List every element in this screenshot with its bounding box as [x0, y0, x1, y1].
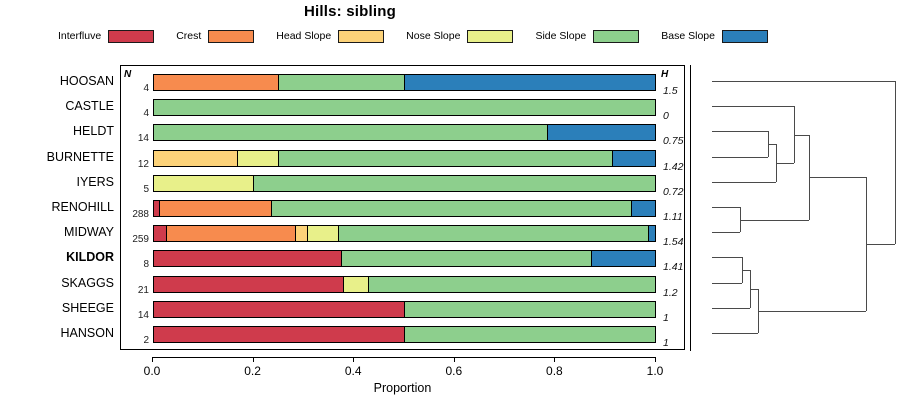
- legend-label: Interfluve: [58, 30, 101, 42]
- table-row: 81.41: [121, 250, 684, 275]
- bar-segment-nose-slope: [308, 226, 339, 241]
- dendrogram-baseline: [690, 65, 691, 351]
- category-label-iyers: IYERS: [0, 175, 114, 189]
- dendrogram: [690, 62, 895, 354]
- table-row: 2881.11: [121, 200, 684, 225]
- n-value: 288: [121, 209, 149, 220]
- dendrogram-link: [742, 270, 750, 271]
- x-tick: [454, 357, 455, 362]
- n-value: 4: [121, 108, 149, 119]
- legend-label: Nose Slope: [406, 30, 460, 42]
- h-value: 0.72: [663, 186, 683, 198]
- legend: InterfluveCrestHead SlopeNose SlopeSide …: [58, 27, 858, 45]
- bar-segment-base-slope: [613, 151, 655, 166]
- bar-segment-base-slope: [548, 125, 655, 140]
- n-value: 12: [121, 159, 149, 170]
- category-label-kildor: KILDOR: [0, 250, 114, 264]
- legend-item: Head Slope: [276, 30, 384, 43]
- dendrogram-link: [776, 163, 794, 164]
- category-label-castle: CASTLE: [0, 99, 114, 113]
- category-label-sheege: SHEEGE: [0, 301, 114, 315]
- legend-swatch: [467, 30, 513, 43]
- x-tick-label: 0.0: [144, 364, 161, 378]
- h-value: 1: [663, 312, 669, 324]
- x-tick: [253, 357, 254, 362]
- legend-label: Base Slope: [661, 30, 715, 42]
- dendrogram-link: [712, 182, 776, 183]
- h-column-header: H: [661, 69, 668, 80]
- dendrogram-link: [712, 131, 768, 132]
- bar-rows: 41.540140.75121.4250.722881.112591.5481.…: [121, 66, 684, 349]
- bar-segment-side-slope: [154, 100, 655, 115]
- bar-segment-interfluve: [154, 226, 167, 241]
- x-axis-line: [152, 357, 655, 358]
- bar-segment-side-slope: [272, 201, 633, 216]
- h-value: 1.2: [663, 287, 678, 299]
- x-tick: [655, 357, 656, 362]
- dendrogram-link: [866, 244, 895, 245]
- table-row: 40: [121, 99, 684, 124]
- table-row: 41.5: [121, 74, 684, 99]
- dendrogram-link: [712, 257, 742, 258]
- legend-swatch: [722, 30, 768, 43]
- chart-canvas: Hills: sibling InterfluveCrestHead Slope…: [0, 0, 900, 420]
- x-tick-label: 0.8: [546, 364, 563, 378]
- h-value: 1: [663, 337, 669, 349]
- table-row: 21: [121, 326, 684, 351]
- bar-segment-interfluve: [154, 277, 344, 292]
- x-tick: [554, 357, 555, 362]
- bar-segment-nose-slope: [154, 176, 254, 191]
- category-axis-labels: HOOSANCASTLEHELDTBURNETTEIYERSRENOHILLMI…: [0, 65, 114, 350]
- n-value: 14: [121, 310, 149, 321]
- dendrogram-link: [712, 308, 750, 309]
- x-tick-label: 0.2: [244, 364, 261, 378]
- dendrogram-link: [712, 207, 740, 208]
- dendrogram-link: [740, 220, 809, 221]
- stacked-bar: [153, 200, 656, 217]
- h-value: 0.75: [663, 135, 683, 147]
- category-label-hanson: HANSON: [0, 326, 114, 340]
- bar-segment-interfluve: [154, 251, 342, 266]
- bar-segment-base-slope: [632, 201, 655, 216]
- h-value: 1.5: [663, 85, 678, 97]
- n-value: 21: [121, 285, 149, 296]
- bar-segment-side-slope: [154, 125, 548, 140]
- bar-segment-side-slope: [342, 251, 593, 266]
- n-value: 2: [121, 335, 149, 346]
- legend-item: Side Slope: [535, 30, 639, 43]
- n-value: 8: [121, 259, 149, 270]
- legend-label: Side Slope: [535, 30, 586, 42]
- x-tick-label: 0.6: [445, 364, 462, 378]
- table-row: 50.72: [121, 175, 684, 200]
- stacked-bar: [153, 150, 656, 167]
- legend-label: Head Slope: [276, 30, 331, 42]
- table-row: 140.75: [121, 124, 684, 149]
- legend-item: Crest: [176, 30, 254, 43]
- x-axis-title: Proportion: [120, 381, 685, 395]
- bar-segment-head-slope: [154, 151, 238, 166]
- table-row: 121.42: [121, 150, 684, 175]
- bar-segment-crest: [167, 226, 296, 241]
- h-value: 0: [663, 110, 669, 122]
- legend-swatch: [338, 30, 384, 43]
- h-value: 1.11: [663, 211, 683, 223]
- h-value: 1.41: [663, 261, 683, 273]
- n-value: 4: [121, 83, 149, 94]
- dendrogram-link: [712, 283, 742, 284]
- dendrogram-link: [712, 106, 794, 107]
- legend-swatch: [208, 30, 254, 43]
- stacked-bar: [153, 175, 656, 192]
- n-value: 5: [121, 184, 149, 195]
- bar-segment-interfluve: [154, 302, 405, 317]
- bar-segment-side-slope: [405, 302, 656, 317]
- bar-segment-base-slope: [592, 251, 655, 266]
- bar-segment-side-slope: [279, 151, 613, 166]
- dendrogram-link: [712, 333, 758, 334]
- bar-segment-nose-slope: [344, 277, 369, 292]
- dendrogram-link: [768, 144, 776, 145]
- stacked-bar: [153, 124, 656, 141]
- dendrogram-link: [895, 81, 896, 244]
- legend-swatch: [108, 30, 154, 43]
- stacked-bar: [153, 301, 656, 318]
- bar-segment-base-slope: [649, 226, 655, 241]
- table-row: 2591.54: [121, 225, 684, 250]
- n-value: 259: [121, 234, 149, 245]
- bar-segment-crest: [160, 201, 272, 216]
- bar-segment-head-slope: [296, 226, 309, 241]
- legend-swatch: [593, 30, 639, 43]
- category-label-renohill: RENOHILL: [0, 200, 114, 214]
- bar-segment-crest: [154, 75, 279, 90]
- category-label-midway: MIDWAY: [0, 225, 114, 239]
- category-label-skaggs: SKAGGS: [0, 276, 114, 290]
- table-row: 211.2: [121, 276, 684, 301]
- legend-item: Base Slope: [661, 30, 768, 43]
- x-tick-label: 0.4: [345, 364, 362, 378]
- stacked-bar: [153, 250, 656, 267]
- plot-area: 41.540140.75121.4250.722881.112591.5481.…: [120, 65, 685, 350]
- chart-title: Hills: sibling: [0, 3, 700, 20]
- stacked-bar: [153, 225, 656, 242]
- bar-segment-nose-slope: [238, 151, 280, 166]
- table-row: 141: [121, 301, 684, 326]
- x-tick: [353, 357, 354, 362]
- bar-segment-side-slope: [254, 176, 655, 191]
- dendrogram-link: [758, 311, 866, 312]
- stacked-bar: [153, 99, 656, 116]
- x-tick: [152, 357, 153, 362]
- dendrogram-link: [750, 289, 758, 290]
- dendrogram-link: [712, 157, 768, 158]
- h-value: 1.54: [663, 236, 683, 248]
- x-axis: 0.00.20.40.60.81.0: [120, 357, 685, 379]
- n-column-header: N: [124, 69, 131, 80]
- category-label-burnette: BURNETTE: [0, 150, 114, 164]
- legend-label: Crest: [176, 30, 201, 42]
- stacked-bar: [153, 74, 656, 91]
- h-value: 1.42: [663, 161, 683, 173]
- bar-segment-base-slope: [405, 75, 656, 90]
- dendrogram-link: [712, 232, 740, 233]
- bar-segment-side-slope: [279, 75, 404, 90]
- dendrogram-link: [712, 81, 895, 82]
- stacked-bar: [153, 276, 656, 293]
- bar-segment-side-slope: [369, 277, 655, 292]
- legend-item: Interfluve: [58, 30, 154, 43]
- dendrogram-link: [794, 135, 809, 136]
- bar-segment-interfluve: [154, 327, 405, 342]
- category-label-hoosan: HOOSAN: [0, 74, 114, 88]
- n-value: 14: [121, 133, 149, 144]
- x-tick-label: 1.0: [647, 364, 664, 378]
- legend-item: Nose Slope: [406, 30, 513, 43]
- stacked-bar: [153, 326, 656, 343]
- dendrogram-link: [809, 177, 866, 178]
- bar-segment-side-slope: [339, 226, 649, 241]
- bar-segment-side-slope: [405, 327, 656, 342]
- category-label-heldt: HELDT: [0, 124, 114, 138]
